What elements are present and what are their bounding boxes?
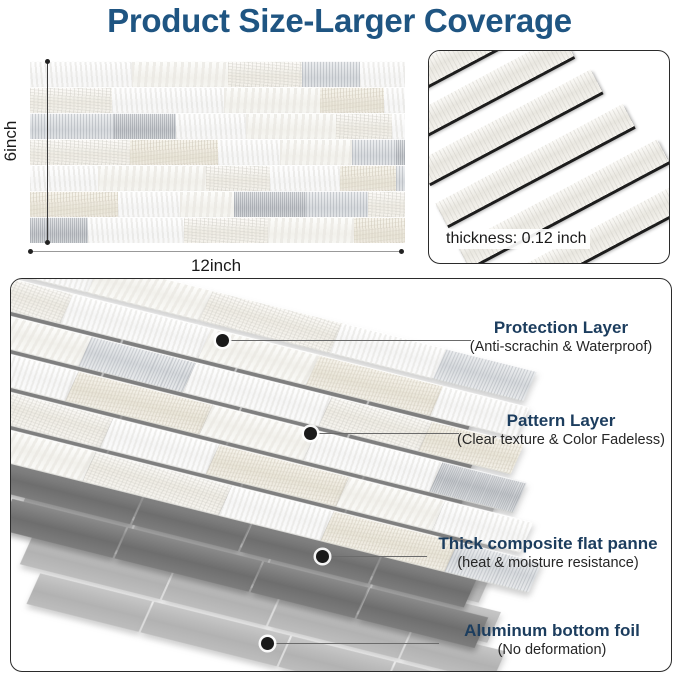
callout-leader-line [317,433,459,434]
dimension-endpoint-dot [45,240,50,245]
callout-aluminum-foil: Aluminum bottom foil (No deformation) [436,620,668,660]
callout-title: Protection Layer [451,317,671,338]
tile-row [30,191,405,217]
callout-subtitle: (heat & moisture resistance) [424,554,672,573]
callout-subtitle: (Clear texture & Color Fadeless) [451,431,671,450]
tile-row [30,87,405,113]
callout-dot-icon [316,550,329,563]
callout-title: Aluminum bottom foil [436,620,668,641]
callout-dot-icon [261,637,274,650]
callout-title: Thick composite flat panne [424,533,672,554]
tile-row [30,61,405,87]
dimension-endpoint-dot [45,59,50,64]
width-label: 12inch [30,256,402,276]
callout-leader-line [329,556,427,557]
thickness-caption: thickness: 0.12 inch [443,229,590,249]
callout-dot-icon [304,427,317,440]
tile-sheet-image [30,61,405,243]
callout-subtitle: (Anti-scrachin & Waterproof) [451,338,671,357]
tile-row [30,113,405,139]
callout-thick-composite: Thick composite flat panne (heat & moist… [424,533,672,573]
callout-leader-line [274,643,439,644]
tile-row [30,217,405,243]
dimension-endpoint-dot [399,249,404,254]
callout-pattern-layer: Pattern Layer (Clear texture & Color Fad… [451,410,671,450]
width-dimension-line [30,251,402,252]
callout-leader-line [229,340,471,341]
page-title: Product Size-Larger Coverage [0,2,679,40]
exploded-layers-panel: Protection Layer (Anti-scrachin & Waterp… [10,278,672,672]
tile-row [30,139,405,165]
tile-row [30,165,405,191]
callout-protection-layer: Protection Layer (Anti-scrachin & Waterp… [451,317,671,357]
thickness-card: thickness: 0.12 inch [428,50,670,264]
callout-title: Pattern Layer [451,410,671,431]
product-size-diagram: 6inch 12inch [0,48,420,270]
dimension-endpoint-dot [28,249,33,254]
height-label: 6inch [1,96,21,186]
callout-dot-icon [216,334,229,347]
height-dimension-line [47,61,48,243]
callout-subtitle: (No deformation) [436,641,668,660]
